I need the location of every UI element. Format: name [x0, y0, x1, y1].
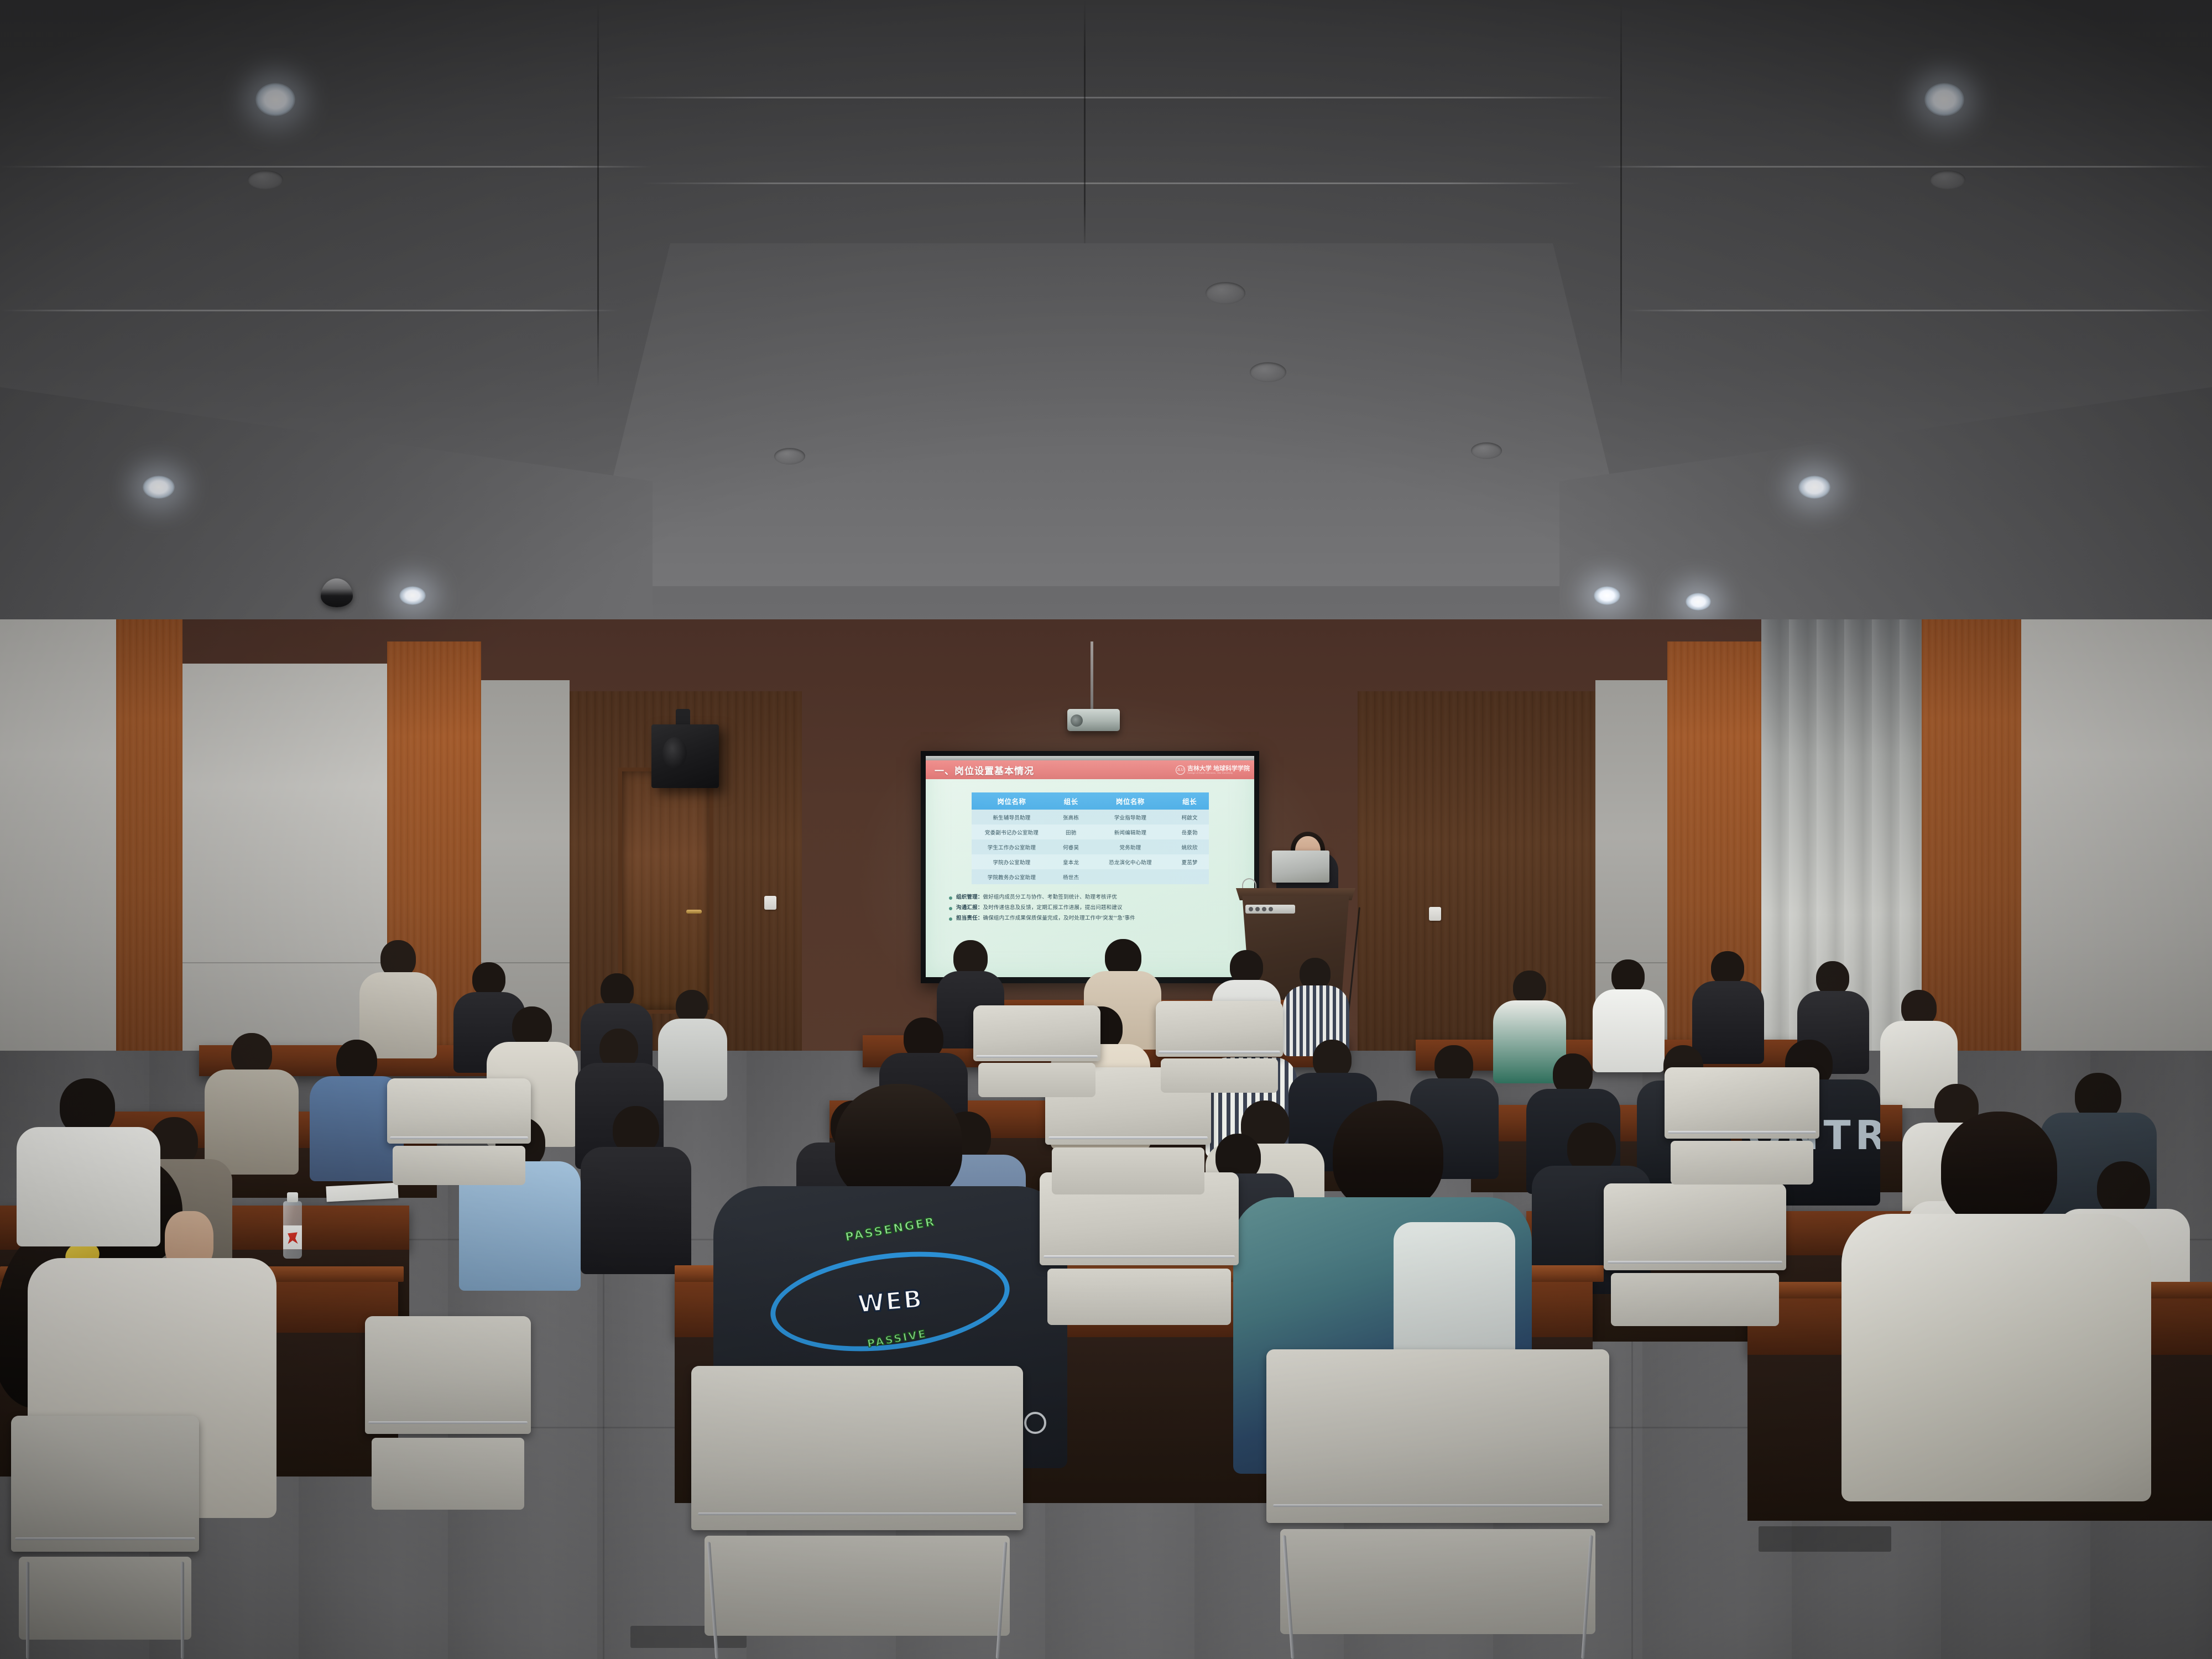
- chair-left-back[interactable]: [387, 1078, 531, 1194]
- cell: 杨世杰: [1052, 869, 1090, 884]
- ceiling-plate: [586, 243, 1637, 586]
- slide-bullets: 组织管理：做好组内成员分工与协作、考勤签到统计、助理考核评优 沟通汇报：及时传递…: [938, 894, 1242, 922]
- light-switch-right[interactable]: [1429, 907, 1441, 921]
- table-row: 党委副书记办公室助理 田驰 新闻编辑助理 岳豪勃: [972, 825, 1209, 839]
- university-logo: JLU 吉林大学 地球科学学院 College of Earth Science…: [1176, 765, 1250, 775]
- laptop: [1272, 851, 1329, 883]
- cell: 学院教务办公室助理: [972, 869, 1052, 884]
- cell: [1171, 869, 1209, 884]
- cell: 党务助理: [1090, 839, 1171, 854]
- table-row: 新生辅导员助理 张高栋 学业指导助理 柯啟文: [972, 810, 1209, 825]
- ceiling-speaker: [1250, 362, 1286, 382]
- ceiling-speaker: [774, 448, 805, 465]
- chair-right-row[interactable]: [1604, 1183, 1786, 1338]
- bullet-item: 沟通汇报：及时传递信息及反馈，定期汇报工作进展，提出问题和建议: [949, 905, 1242, 911]
- cell: 何睿昊: [1052, 839, 1090, 854]
- ceiling-downlight: [399, 586, 426, 605]
- chair-foreground-left[interactable]: [691, 1366, 1023, 1659]
- bullet-text: 确保组内工作成果保质保量完成，及时处理工作中“突发”“急”事件: [983, 915, 1135, 921]
- column-header: 岗位名称: [1090, 792, 1171, 810]
- table-header-row: 岗位名称 组长 岗位名称 组长: [972, 792, 1209, 810]
- column-header: 组长: [1171, 792, 1209, 810]
- cell: 恐龙演化中心助理: [1090, 854, 1171, 869]
- table-row: 学生工作办公室助理 何睿昊 党务助理 姚欣欣: [972, 839, 1209, 854]
- projector-lens-icon: [1071, 714, 1083, 727]
- bullet-lead: 组织管理：: [956, 894, 983, 900]
- cell: 田驰: [1052, 825, 1090, 839]
- jacket-stamp-icon: [1024, 1412, 1046, 1434]
- attendee: [581, 1106, 691, 1272]
- projector-mount: [1091, 641, 1093, 711]
- attendee-front-right: [1841, 1112, 2151, 1499]
- chair-foreground-right[interactable]: [1266, 1349, 1609, 1659]
- wall-speaker-left: [651, 724, 719, 788]
- bullet-item: 组织管理：做好组内成员分工与协作、考勤签到统计、助理考核评优: [949, 894, 1242, 901]
- bullet-dot-icon: [949, 907, 952, 910]
- attendee: [359, 940, 437, 1056]
- chair-mid-left[interactable]: [365, 1316, 531, 1526]
- ceiling-speaker: [1206, 282, 1245, 304]
- column-header: 岗位名称: [972, 792, 1052, 810]
- ceiling-downlight: [1798, 476, 1830, 499]
- slide-title: 一、岗位设置基本情况: [935, 763, 1034, 777]
- ceiling-downlight: [1924, 83, 1964, 116]
- chair-far-mid[interactable]: [973, 1005, 1100, 1105]
- attendee: [17, 1078, 160, 1244]
- cell: 学业指导助理: [1090, 810, 1171, 825]
- cell: 皇本龙: [1052, 854, 1090, 869]
- bullet-text: 及时传递信息及反馈，定期汇报工作进展，提出问题和建议: [983, 905, 1123, 911]
- logo-name-cn: 吉林大学 地球科学学院: [1187, 766, 1250, 772]
- projector: [1067, 709, 1120, 731]
- slide-title-band: 一、岗位设置基本情况 JLU 吉林大学 地球科学学院 College of Ea…: [926, 760, 1254, 779]
- bullet-lead: 沟通汇报：: [956, 905, 983, 911]
- ceiling-speaker: [1930, 170, 1965, 189]
- cell: 学生工作办公室助理: [972, 839, 1052, 854]
- ceiling-downlight: [255, 83, 295, 116]
- cell: 学院办公室助理: [972, 854, 1052, 869]
- bullet-lead: 担当责任：: [956, 915, 983, 921]
- wood-column-left-outer: [116, 619, 182, 1073]
- ceiling-soffit-right: [1559, 387, 2212, 658]
- logo-name-en: College of Earth Sciences, Jilin Univers…: [1187, 772, 1250, 774]
- cell: 夏茁梦: [1171, 854, 1209, 869]
- ceiling: [0, 0, 2212, 658]
- bullet-item: 担当责任：确保组内工作成果保质保量完成，及时处理工作中“突发”“急”事件: [949, 915, 1242, 922]
- jacket-arc-top-text: PASSENGER: [757, 1199, 1024, 1259]
- chair-left-aisle[interactable]: [11, 1416, 199, 1659]
- bottle-brand-mark: [286, 1230, 298, 1244]
- logo-badge: JLU: [1176, 765, 1185, 775]
- cell: 张高栋: [1052, 810, 1090, 825]
- cell: 岳豪勃: [1171, 825, 1209, 839]
- chair-far-right[interactable]: [1156, 1001, 1283, 1100]
- ceiling-soffit-left: [0, 387, 653, 658]
- podium-control-panel[interactable]: [1245, 905, 1295, 914]
- bullet-dot-icon: [949, 896, 952, 900]
- cell: 姚欣欣: [1171, 839, 1209, 854]
- assignment-table: 岗位名称 组长 岗位名称 组长 新生辅导员助理 张高栋 学业指导助理 柯啟文: [972, 792, 1209, 884]
- chair-right-back[interactable]: [1665, 1067, 1819, 1194]
- column-header: 组长: [1052, 792, 1090, 810]
- ceiling-downlight: [1686, 593, 1711, 611]
- table-row: 学院教务办公室助理 杨世杰: [972, 869, 1209, 884]
- bullet-dot-icon: [949, 917, 952, 921]
- cell: 新生辅导员助理: [972, 810, 1052, 825]
- table-row: 学院办公室助理 皇本龙 恐龙演化中心助理 夏茁梦: [972, 854, 1209, 869]
- jacket-center-text: WEB: [857, 1285, 924, 1319]
- bottle-cap: [287, 1192, 298, 1202]
- ceiling-speaker: [248, 170, 283, 189]
- cell: [1090, 869, 1171, 884]
- door-handle-icon: [686, 910, 702, 914]
- lecture-hall-photo: 一、岗位设置基本情况 JLU 吉林大学 地球科学学院 College of Ea…: [0, 0, 2212, 1659]
- cell: 党委副书记办公室助理: [972, 825, 1052, 839]
- attendee: [658, 990, 727, 1098]
- ceiling-speaker: [1471, 442, 1502, 459]
- ceiling-downlight: [1594, 586, 1620, 605]
- light-switch-left[interactable]: [764, 896, 776, 910]
- cell: 柯啟文: [1171, 810, 1209, 825]
- ceiling-downlight: [143, 476, 175, 499]
- bullet-text: 做好组内成员分工与协作、考勤签到统计、助理考核评优: [983, 894, 1118, 900]
- cell: 新闻编辑助理: [1090, 825, 1171, 839]
